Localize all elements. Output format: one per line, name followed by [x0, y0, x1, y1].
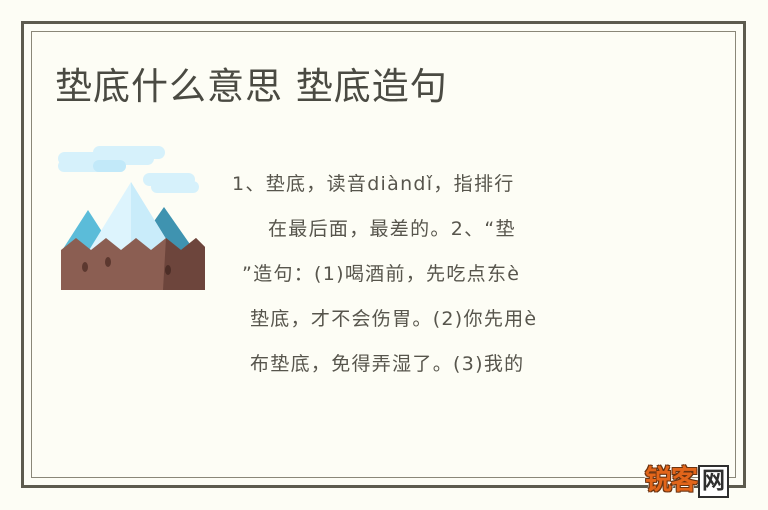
watermark-text: 锐客 [645, 465, 697, 497]
article-line: 在最后面，最差的。2、“垫 [232, 207, 684, 252]
mountain-landscape-illustration [55, 142, 213, 297]
cloud-icon [58, 146, 199, 193]
article-page: 垫底什么意思 垫底造句 [0, 0, 768, 510]
article-line: 布垫底，免得弄湿了。(3)我的 [232, 342, 684, 387]
page-title: 垫底什么意思 垫底造句 [55, 63, 448, 111]
watermark-box-text: 网 [698, 465, 729, 498]
article-line: ”造句：(1)喝酒前，先吃点东è [232, 252, 684, 297]
article-body: 1、垫底，读音diàndǐ，指排行 在最后面，最差的。2、“垫 ”造句：(1)喝… [232, 162, 684, 387]
article-line: 垫底，才不会伤胃。(2)你先用è [232, 297, 684, 342]
article-line: 1、垫底，读音diàndǐ，指排行 [232, 162, 684, 207]
site-watermark: 锐客 网 [645, 464, 729, 498]
